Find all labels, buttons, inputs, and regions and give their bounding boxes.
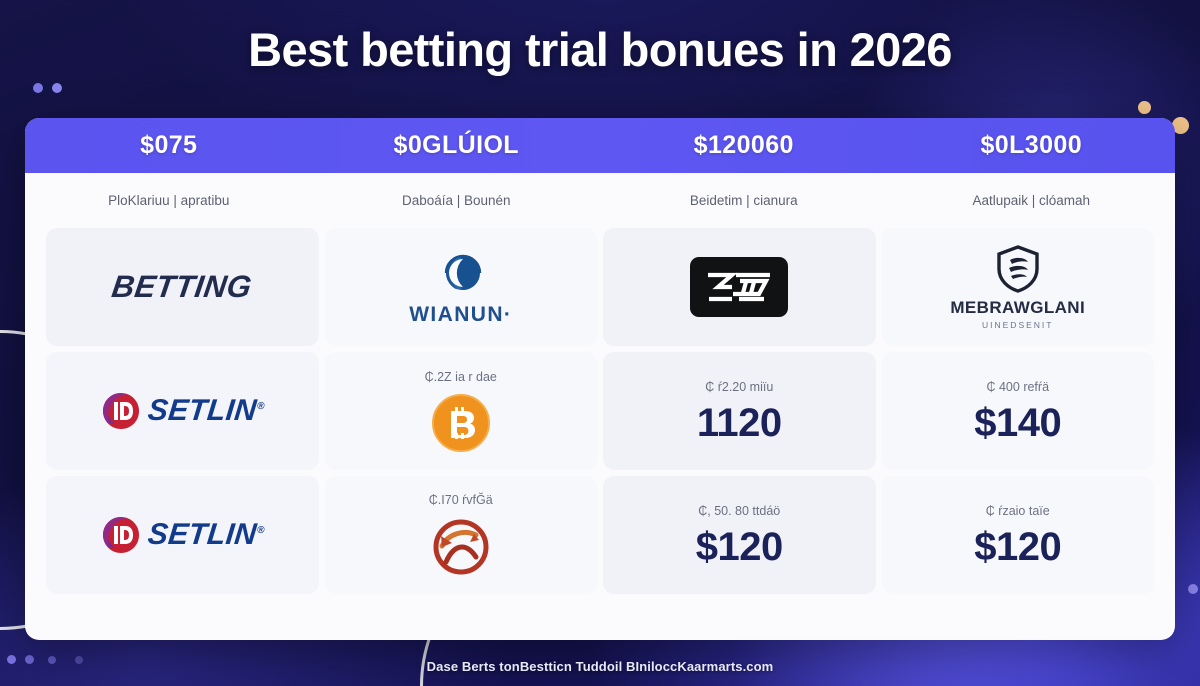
header-sublabel-4: Aatlupaik | clóamah [888,173,1176,228]
table-row: SETLIN® ₵.I70 ŕvfĞä ₵, 50. 80 ttdáö $120 [25,476,1175,600]
setlin-id-icon [101,391,141,431]
table-header-row: $075 $0GLÚIOL $120060 $0L3000 [25,118,1175,173]
header-sublabel-2: Daboáía | Bounén [313,173,601,228]
cell-brand-wianun[interactable]: WIANUN· [325,228,598,346]
cell-noentry-1[interactable]: ₵.I70 ŕvfĞä [325,476,598,594]
decor-dot-topleft-2 [52,83,62,93]
table-row: BETTING WIANUN· [25,228,1175,352]
value-text: $140 [974,403,1061,443]
micro-label: ₵ ŕ2.20 miïu [705,380,773,394]
table-sublabel-row: PloKlariuu | apratibu Daboáía | Bounén B… [25,173,1175,228]
cell-bitcoin-1[interactable]: ₵.2Z ia r dae [325,352,598,470]
header-amount-1: $075 [25,118,313,173]
black-badge-logo [690,257,788,317]
setlin-id-icon [101,515,141,555]
table-row: SETLIN® ₵.2Z ia r dae ₵ ŕ2.20 miïu 1120 … [25,352,1175,476]
header-amount-3: $120060 [600,118,888,173]
slide-canvas: Best betting trial bonues in 2026 $075 $… [0,0,1200,686]
value-text: $120 [974,527,1061,567]
cell-brand-setlin-2[interactable]: SETLIN® [46,476,319,594]
setlin-logo-text: SETLIN® [146,518,266,552]
setlin-logo-text: SETLIN® [146,394,266,428]
cell-brand-badge[interactable] [603,228,876,346]
decor-dot-bottomright [1188,584,1198,594]
micro-label: ₵.2Z ia r dae [425,370,497,384]
header-amount-2: $0GLÚIOL [313,118,601,173]
micro-label: ₵, 50. 80 ttdáö [698,504,780,518]
comparison-card: $075 $0GLÚIOL $120060 $0L3000 PloKlariuu… [25,118,1175,640]
bitcoin-icon [431,393,491,453]
circular-arrow-icon [430,516,492,578]
shield-brand-subtext: UINEDSENIT [982,320,1053,330]
cell-value-r2c4[interactable]: ₵ 400 refŕä $140 [882,352,1155,470]
wianun-logo-text: WIANUN· [409,303,512,327]
betting-logo-text: BETTING [110,269,255,305]
cell-value-r3c4[interactable]: ₵ ŕzaio taïe $120 [882,476,1155,594]
decor-dot-topleft-1 [33,83,43,93]
micro-label: ₵ ŕzaio taïe [986,504,1050,518]
micro-label: ₵.I70 ŕvfĞä [429,493,493,507]
shield-brand-text: MEBRAWGLANI [950,298,1085,318]
page-title: Best betting trial bonues in 2026 [0,22,1200,77]
value-text: $120 [696,527,783,567]
cell-value-r2c3[interactable]: ₵ ŕ2.20 miïu 1120 [603,352,876,470]
footer-source-text: Dase Berts tonBestticn Tuddoil BIniloccK… [0,659,1200,674]
cell-value-r3c3[interactable]: ₵, 50. 80 ttdáö $120 [603,476,876,594]
wianun-circle-icon [435,247,487,299]
micro-label: ₵ 400 refŕä [986,380,1049,394]
abstract-glyph-icon [702,266,776,308]
decor-dot-topright-1 [1138,101,1151,114]
header-sublabel-3: Beidetim | cianura [600,173,888,228]
cell-brand-setlin-1[interactable]: SETLIN® [46,352,319,470]
shield-icon [995,244,1041,294]
cell-brand-betting[interactable]: BETTING [46,228,319,346]
cell-brand-shield[interactable]: MEBRAWGLANI UINEDSENIT [882,228,1155,346]
value-text: 1120 [697,403,782,443]
header-amount-4: $0L3000 [888,118,1176,173]
header-sublabel-1: PloKlariuu | apratibu [25,173,313,228]
